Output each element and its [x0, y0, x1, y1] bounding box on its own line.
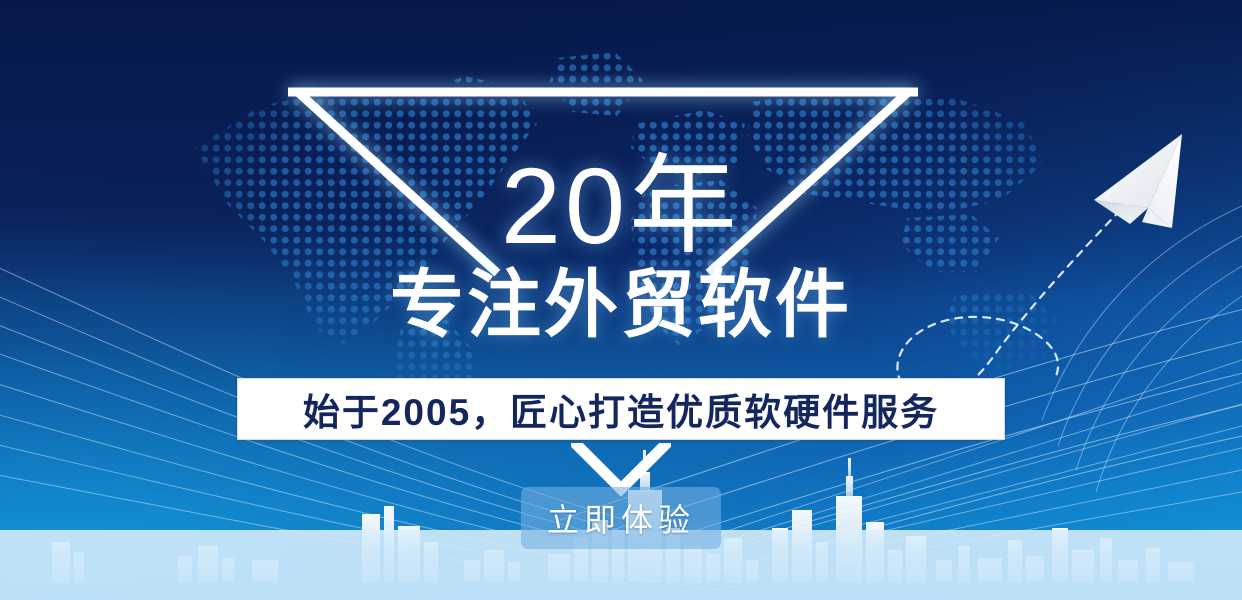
- subtitle-text: 始于2005，匠心打造优质软硬件服务: [303, 382, 939, 436]
- headline-main: 专注外贸软件: [0, 266, 1242, 344]
- cta-button-label: 立即体验: [547, 495, 695, 541]
- headline-year: 20年: [0, 152, 1242, 260]
- headline-block: 20年 专注外贸软件: [0, 152, 1242, 344]
- promo-banner: 20年 专注外贸软件 始于2005，匠心打造优质软硬件服务 立即体验: [0, 0, 1242, 600]
- subtitle-bar: 始于2005，匠心打造优质软硬件服务: [237, 378, 1005, 440]
- cta-button[interactable]: 立即体验: [521, 487, 721, 549]
